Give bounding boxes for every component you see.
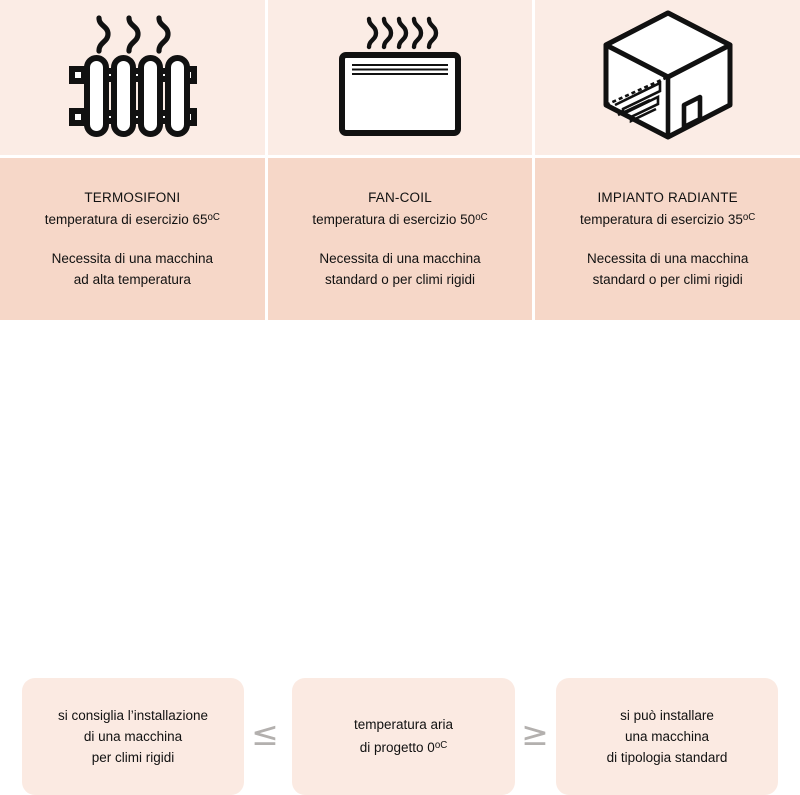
system-title: IMPIANTO RADIANTE bbox=[597, 188, 737, 208]
machine-note-line-2: ad alta temperatura bbox=[74, 269, 191, 290]
machine-note-line-1: Necessita di una macchina bbox=[587, 248, 748, 269]
recommendation-line-3: di tipologia standard bbox=[607, 747, 728, 768]
design-temperature-text: temperatura aria di progetto 0oC bbox=[354, 714, 453, 758]
machine-note-line-2: standard o per climi rigidi bbox=[593, 269, 743, 290]
icon-cell-fan-coil bbox=[268, 0, 533, 155]
system-title: TERMOSIFONI bbox=[84, 188, 180, 208]
radiator-icon bbox=[67, 9, 197, 146]
design-temperature-line-2: di progetto 0oC bbox=[354, 735, 453, 758]
recommendation-box-standard: si può installare una macchina di tipolo… bbox=[556, 678, 778, 795]
fan-coil-icon bbox=[330, 9, 470, 146]
design-temperature-line-1: temperatura aria bbox=[354, 714, 453, 735]
recommendation-row: si consiglia l’installazione di una macc… bbox=[0, 320, 800, 481]
icon-cell-termosifoni bbox=[0, 0, 265, 155]
operating-temperature: temperatura di esercizio 50oC bbox=[312, 208, 487, 230]
design-temperature-value: di progetto 0 bbox=[360, 741, 435, 756]
operating-temperature-text: temperatura di esercizio 35 bbox=[580, 212, 743, 227]
machine-note-line-2: standard o per climi rigidi bbox=[325, 269, 475, 290]
design-air-temperature-box: temperatura aria di progetto 0oC bbox=[292, 678, 515, 795]
recommendation-box-cold-climate: si consiglia l’installazione di una macc… bbox=[22, 678, 244, 795]
radiant-floor-house-icon bbox=[588, 9, 748, 146]
system-title: FAN-COIL bbox=[368, 188, 432, 208]
recommendation-line-2: di una macchina bbox=[58, 726, 208, 747]
recommendation-text: si può installare una macchina di tipolo… bbox=[607, 705, 728, 768]
recommendation-line-2: una macchina bbox=[607, 726, 728, 747]
temperature-unit: oC bbox=[208, 212, 220, 223]
icon-row bbox=[0, 0, 800, 155]
description-cell-fan-coil: FAN-COIL temperatura di esercizio 50oC N… bbox=[268, 158, 533, 320]
description-row: TERMOSIFONI temperatura di esercizio 65o… bbox=[0, 158, 800, 320]
infographic-root: TERMOSIFONI temperatura di esercizio 65o… bbox=[0, 0, 800, 481]
less-than-or-equal-icon: ≤ bbox=[245, 712, 285, 756]
temperature-unit: oC bbox=[475, 212, 487, 223]
operating-temperature-text: temperatura di esercizio 65 bbox=[45, 212, 208, 227]
description-cell-impianto-radiante: IMPIANTO RADIANTE temperatura di eserciz… bbox=[535, 158, 800, 320]
machine-note-line-1: Necessita di una macchina bbox=[52, 248, 213, 269]
greater-than-or-equal-icon: ≥ bbox=[515, 712, 555, 756]
recommendation-line-1: si può installare bbox=[607, 705, 728, 726]
operating-temperature: temperatura di esercizio 65oC bbox=[45, 208, 220, 230]
recommendation-line-3: per climi rigidi bbox=[58, 747, 208, 768]
operating-temperature-text: temperatura di esercizio 50 bbox=[312, 212, 475, 227]
operating-temperature: temperatura di esercizio 35oC bbox=[580, 208, 755, 230]
recommendation-text: si consiglia l’installazione di una macc… bbox=[58, 705, 208, 768]
recommendation-line-1: si consiglia l’installazione bbox=[58, 705, 208, 726]
temperature-unit: oC bbox=[435, 740, 447, 751]
icon-cell-impianto-radiante bbox=[535, 0, 800, 155]
machine-note-line-1: Necessita di una macchina bbox=[319, 248, 480, 269]
description-cell-termosifoni: TERMOSIFONI temperatura di esercizio 65o… bbox=[0, 158, 265, 320]
temperature-unit: oC bbox=[743, 212, 755, 223]
